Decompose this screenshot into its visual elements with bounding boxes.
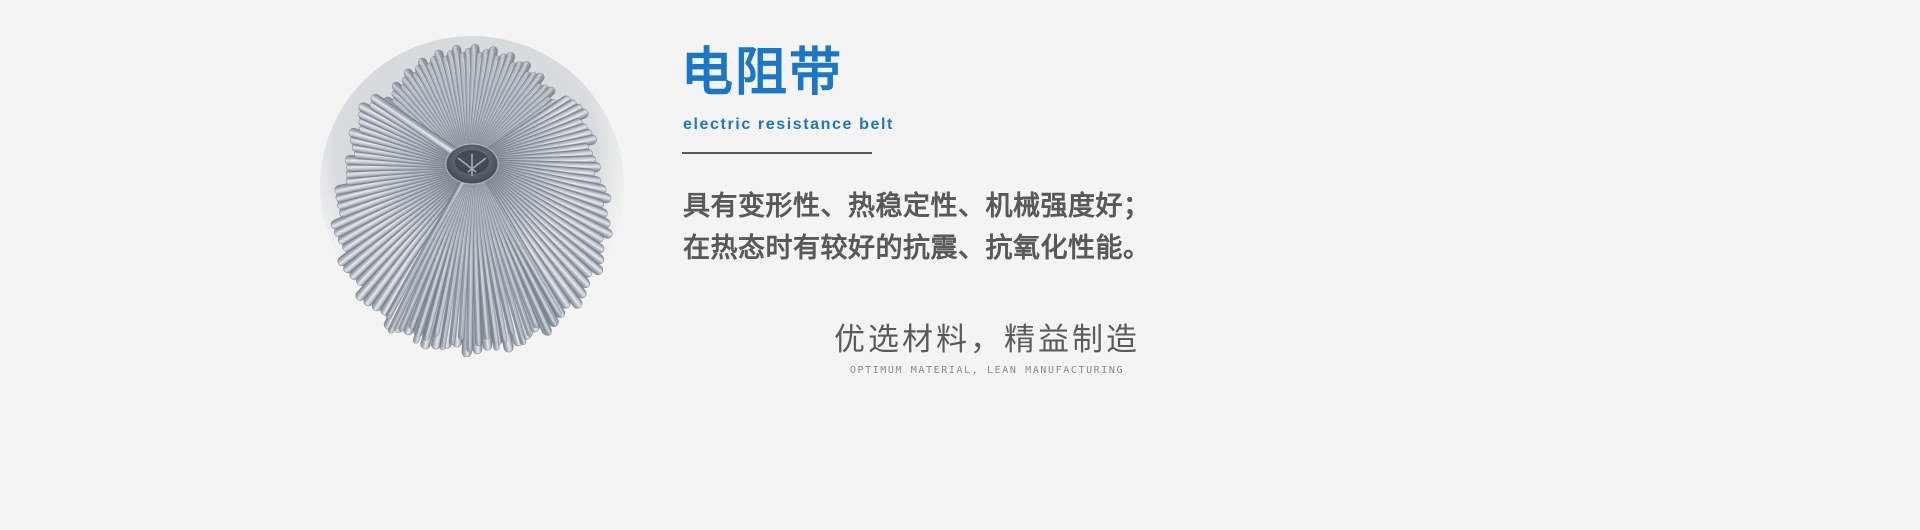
- tagline-block: 优选材料，精益制造 OPTIMUM MATERIAL, LEAN MANUFAC…: [777, 318, 1197, 378]
- product-image: [300, 36, 670, 366]
- description-block: 具有变形性、热稳定性、机械强度好； 在热态时有较好的抗震、抗氧化性能。: [683, 186, 1243, 270]
- page-subtitle: electric resistance belt: [683, 115, 894, 135]
- tagline-english: OPTIMUM MATERIAL, LEAN MANUFACTURING: [777, 364, 1197, 378]
- title-divider: [682, 152, 872, 154]
- description-line-1: 具有变形性、热稳定性、机械强度好；: [683, 186, 1243, 228]
- page-title: 电阻带: [681, 44, 843, 102]
- text-column: 电阻带 electric resistance belt 具有变形性、热稳定性、…: [681, 0, 1581, 530]
- description-line-2: 在热态时有较好的抗震、抗氧化性能。: [683, 228, 1243, 270]
- center-hub: [446, 144, 498, 184]
- resistance-belt-illustration: [300, 36, 670, 366]
- tagline-chinese: 优选材料，精益制造: [777, 318, 1197, 362]
- product-banner: 电阻带 electric resistance belt 具有变形性、热稳定性、…: [0, 0, 1920, 530]
